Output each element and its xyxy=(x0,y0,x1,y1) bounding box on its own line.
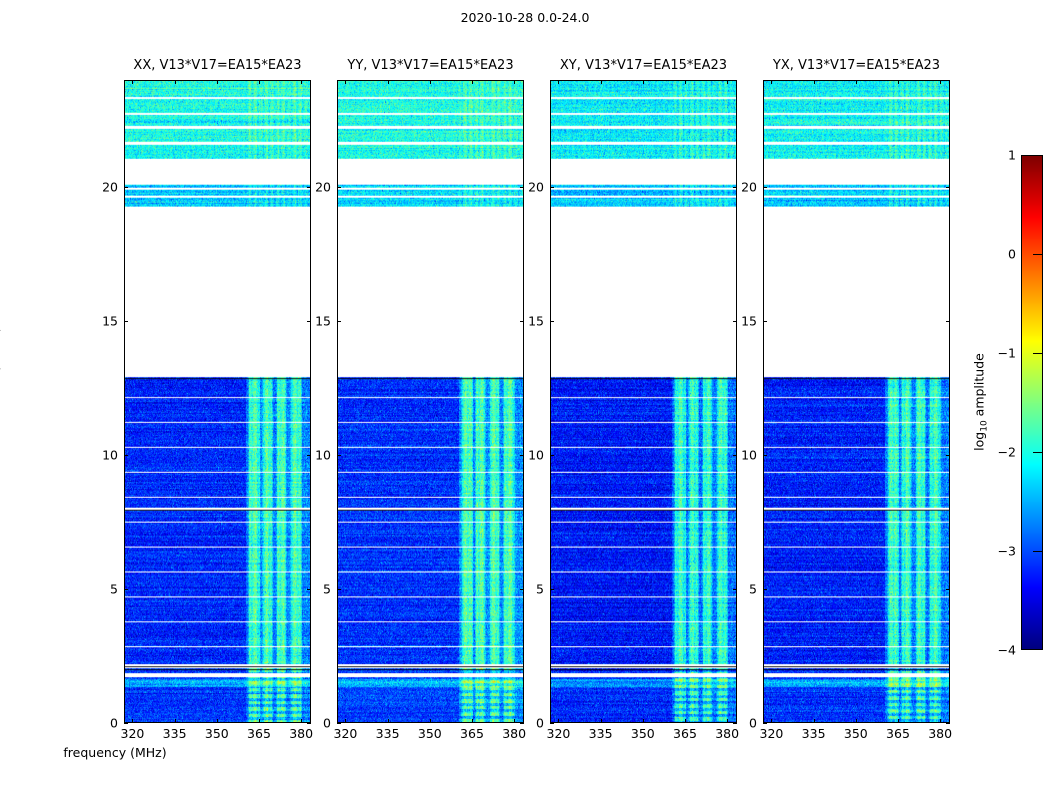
y-tick-mark xyxy=(550,723,554,724)
x-tick-mark xyxy=(601,719,602,723)
x-tick-label: 335 xyxy=(376,726,400,741)
x-tick-mark xyxy=(558,719,559,723)
waterfall-image-yy xyxy=(338,81,523,722)
y-tick-mark-right xyxy=(946,723,950,724)
y-tick-label: 10 xyxy=(504,448,544,463)
colorbar-tick-label: −1 xyxy=(988,346,1016,361)
y-tick-mark xyxy=(763,321,767,322)
x-tick-mark-top xyxy=(814,80,815,84)
colorbar-tick-mark xyxy=(1033,452,1042,453)
y-tick-mark xyxy=(550,321,554,322)
x-tick-mark-top xyxy=(514,80,515,84)
y-tick-mark xyxy=(337,455,341,456)
y-tick-mark xyxy=(124,321,128,322)
panel-title-yy: YY, V13*V17=EA15*EA23 xyxy=(337,58,524,76)
y-tick-label: 0 xyxy=(291,716,331,731)
y-tick-label: 15 xyxy=(717,314,757,329)
figure-suptitle: 2020-10-28 0.0-24.0 xyxy=(0,10,1050,25)
y-tick-label: 20 xyxy=(717,180,757,195)
x-tick-mark-top xyxy=(856,80,857,84)
x-tick-mark-top xyxy=(259,80,260,84)
x-axis-label: frequency (MHz) xyxy=(0,745,640,760)
y-tick-mark-right xyxy=(946,455,950,456)
x-tick-mark-top xyxy=(685,80,686,84)
y-tick-mark-right xyxy=(946,589,950,590)
colorbar-gradient xyxy=(1022,156,1042,649)
x-tick-label: 320 xyxy=(759,726,783,741)
y-tick-label: 15 xyxy=(504,314,544,329)
x-tick-mark xyxy=(472,719,473,723)
x-tick-mark xyxy=(345,719,346,723)
y-tick-mark xyxy=(763,455,767,456)
x-tick-label: 335 xyxy=(802,726,826,741)
figure-canvas: 2020-10-28 0.0-24.0 UT (hours) frequency… xyxy=(0,0,1050,800)
x-tick-label: 320 xyxy=(120,726,144,741)
y-tick-mark xyxy=(337,723,341,724)
x-tick-mark xyxy=(430,719,431,723)
x-tick-mark-top xyxy=(898,80,899,84)
panel-title-xx: XX, V13*V17=EA15*EA23 xyxy=(124,58,311,76)
x-tick-mark xyxy=(643,719,644,723)
y-tick-mark xyxy=(337,187,341,188)
x-tick-mark-top xyxy=(175,80,176,84)
x-tick-label: 365 xyxy=(886,726,910,741)
x-tick-mark-top xyxy=(132,80,133,84)
y-tick-mark-right xyxy=(946,187,950,188)
y-tick-label: 5 xyxy=(291,582,331,597)
colorbar-tick-label: 1 xyxy=(988,148,1016,163)
x-tick-label: 365 xyxy=(673,726,697,741)
x-tick-mark xyxy=(940,719,941,723)
colorbar-tick-label: −3 xyxy=(988,544,1016,559)
y-tick-mark xyxy=(550,589,554,590)
waterfall-image-yx xyxy=(764,81,949,722)
x-tick-mark xyxy=(814,719,815,723)
x-tick-label: 350 xyxy=(205,726,229,741)
panel-xy[interactable] xyxy=(550,80,737,723)
y-tick-label: 15 xyxy=(291,314,331,329)
panel-yy[interactable] xyxy=(337,80,524,723)
panel-title-xy: XY, V13*V17=EA15*EA23 xyxy=(550,58,737,76)
x-tick-mark-top xyxy=(217,80,218,84)
x-tick-mark xyxy=(259,719,260,723)
y-tick-label: 10 xyxy=(78,448,118,463)
y-tick-mark-right xyxy=(946,321,950,322)
x-tick-mark-top xyxy=(601,80,602,84)
colorbar-tick-mark xyxy=(1033,551,1042,552)
y-tick-mark xyxy=(124,455,128,456)
y-tick-mark xyxy=(337,321,341,322)
x-tick-mark xyxy=(217,719,218,723)
y-tick-mark xyxy=(763,187,767,188)
x-tick-mark xyxy=(388,719,389,723)
y-tick-mark xyxy=(124,187,128,188)
y-tick-label: 5 xyxy=(717,582,757,597)
y-tick-label: 15 xyxy=(78,314,118,329)
x-tick-mark-top xyxy=(472,80,473,84)
x-tick-mark xyxy=(175,719,176,723)
x-tick-mark-top xyxy=(345,80,346,84)
colorbar-tick-label: −4 xyxy=(988,643,1016,658)
x-tick-label: 350 xyxy=(844,726,868,741)
x-tick-mark-top xyxy=(430,80,431,84)
y-tick-label: 5 xyxy=(78,582,118,597)
x-tick-label: 365 xyxy=(247,726,271,741)
y-tick-mark xyxy=(763,589,767,590)
y-tick-label: 20 xyxy=(504,180,544,195)
x-tick-label: 350 xyxy=(418,726,442,741)
x-tick-mark-top xyxy=(940,80,941,84)
x-tick-mark-top xyxy=(727,80,728,84)
colorbar-label: log10 amplitude xyxy=(972,302,987,502)
y-tick-label: 20 xyxy=(291,180,331,195)
y-tick-label: 0 xyxy=(504,716,544,731)
x-tick-label: 335 xyxy=(163,726,187,741)
y-tick-label: 5 xyxy=(504,582,544,597)
x-tick-mark-top xyxy=(301,80,302,84)
panel-xx[interactable] xyxy=(124,80,311,723)
colorbar-tick-mark xyxy=(1033,353,1042,354)
y-tick-label: 0 xyxy=(78,716,118,731)
y-tick-label: 10 xyxy=(717,448,757,463)
x-tick-mark xyxy=(856,719,857,723)
panel-title-yx: YX, V13*V17=EA15*EA23 xyxy=(763,58,950,76)
colorbar[interactable] xyxy=(1021,155,1043,650)
y-tick-mark xyxy=(550,455,554,456)
x-tick-label: 365 xyxy=(460,726,484,741)
y-tick-mark xyxy=(337,589,341,590)
colorbar-tick-label: 0 xyxy=(988,247,1016,262)
x-tick-label: 380 xyxy=(928,726,952,741)
x-tick-label: 335 xyxy=(589,726,613,741)
x-tick-mark xyxy=(898,719,899,723)
waterfall-image-xy xyxy=(551,81,736,722)
x-tick-label: 320 xyxy=(546,726,570,741)
y-tick-mark xyxy=(550,187,554,188)
y-tick-mark xyxy=(124,723,128,724)
colorbar-tick-label: −2 xyxy=(988,445,1016,460)
y-tick-mark xyxy=(124,589,128,590)
x-tick-mark xyxy=(685,719,686,723)
x-tick-mark xyxy=(132,719,133,723)
x-tick-mark-top xyxy=(558,80,559,84)
y-tick-label: 10 xyxy=(291,448,331,463)
x-tick-label: 320 xyxy=(333,726,357,741)
y-axis-label: UT (hours) xyxy=(0,270,2,450)
waterfall-image-xx xyxy=(125,81,310,722)
y-tick-mark xyxy=(763,723,767,724)
colorbar-tick-mark xyxy=(1033,254,1042,255)
x-tick-mark-top xyxy=(643,80,644,84)
y-tick-label: 20 xyxy=(78,180,118,195)
x-tick-mark-top xyxy=(771,80,772,84)
y-tick-label: 0 xyxy=(717,716,757,731)
x-tick-mark-top xyxy=(388,80,389,84)
x-tick-mark xyxy=(771,719,772,723)
x-tick-label: 350 xyxy=(631,726,655,741)
panel-yx[interactable] xyxy=(763,80,950,723)
